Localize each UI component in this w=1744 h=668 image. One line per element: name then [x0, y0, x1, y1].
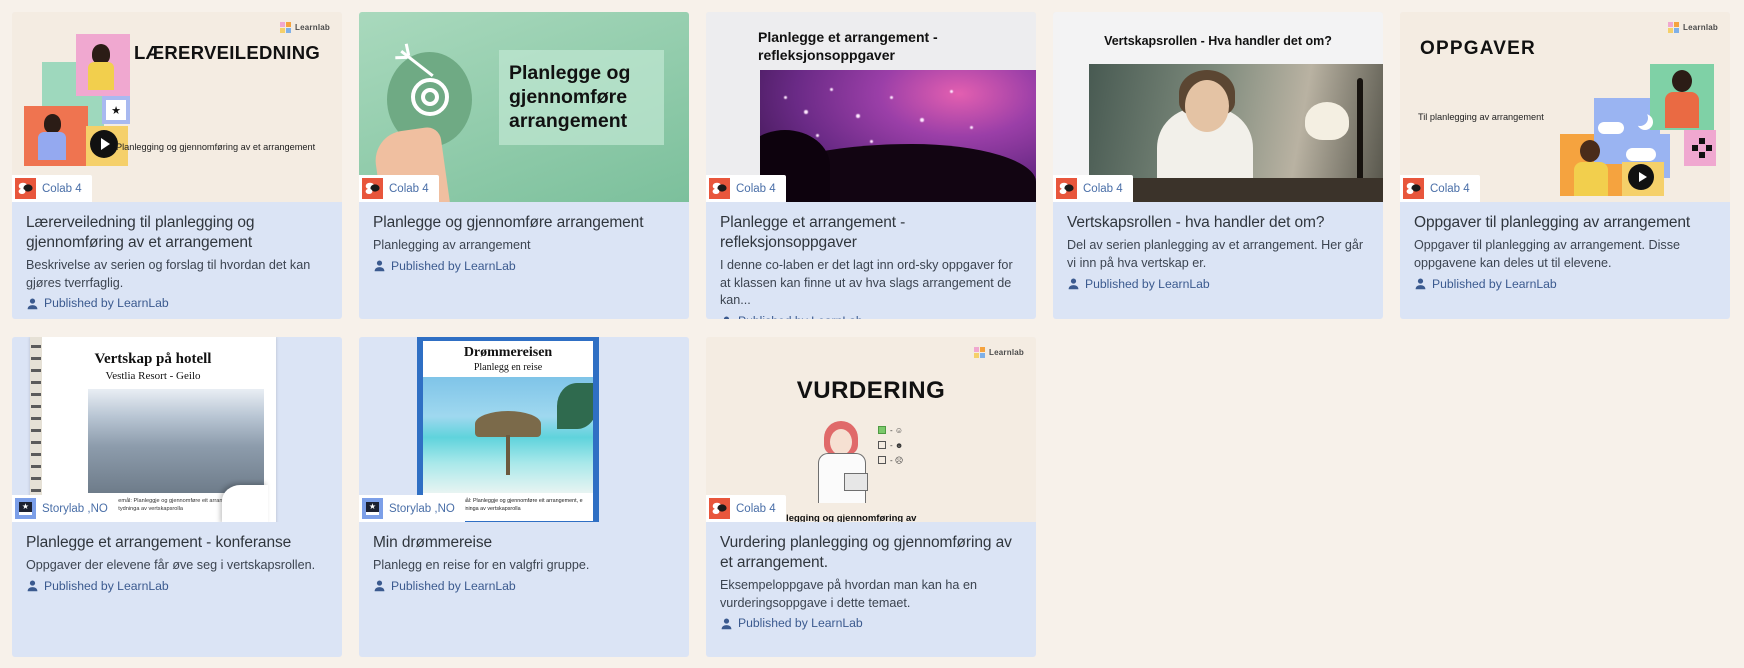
person-illustration-a [1572, 140, 1612, 196]
card-body: Planlegge et arrangement - konferanse Op… [12, 522, 342, 657]
card-body: Vurdering planlegging og gjennomføring a… [706, 522, 1036, 657]
thumbnail-subheading: Til planlegging av arrangement [1418, 112, 1544, 122]
card-publisher: Published by LearnLab [720, 314, 1022, 319]
card-title[interactable]: Vurdering planlegging og gjennomføring a… [720, 533, 1022, 573]
thumbnail-heading: VURDERING [706, 377, 1036, 405]
content-card-laererveiledning[interactable]: ★ LÆRERVEILEDNING Planlegging og gjennom… [12, 12, 342, 319]
book-star-icon: ★ [15, 498, 36, 519]
card-publisher: Published by LearnLab [373, 579, 675, 593]
card-thumbnail[interactable]: Vertskapsrollen - Hva handler det om? Co… [1053, 12, 1383, 202]
card-title[interactable]: Oppgaver til planlegging av arrangement [1414, 213, 1716, 233]
person-illustration-b [1662, 70, 1704, 128]
palm-tree [557, 383, 593, 429]
content-card-konferanse[interactable]: Vertskap på hotell Vestlia Resort - Geil… [12, 337, 342, 657]
card-publisher: Published by LearnLab [373, 259, 675, 273]
lamp-shade [1305, 102, 1349, 140]
content-card-refleksjonsoppgaver[interactable]: Planlegge et arrangement - refleksjonsop… [706, 12, 1036, 319]
body-shape [88, 62, 114, 90]
card-title[interactable]: Planlegge et arrangement - refleksjonsop… [720, 213, 1022, 253]
source-badge-label: Colab 4 [389, 183, 429, 195]
thumbnail-artwork-laererveiledning: ★ LÆRERVEILEDNING Planlegging og gjennom… [12, 12, 342, 202]
thumbnail-heading: Vertskapsrollen - Hva handler det om? [1053, 34, 1383, 48]
checkbox-rating-list: - ☺ - ☻ - ☹ [878, 423, 950, 469]
thumbnail-subheading: Planlegging og gjennomføring av arrangem… [766, 513, 976, 522]
fireworks-photo [760, 70, 1036, 202]
rating-row-neutral: - ☻ [878, 438, 950, 453]
card-thumbnail[interactable]: Vertskap på hotell Vestlia Resort - Geil… [12, 337, 342, 522]
beach-umbrella [475, 411, 541, 437]
play-icon [1628, 164, 1654, 190]
card-title[interactable]: Vertskapsrollen - hva handler det om? [1067, 213, 1369, 233]
thumbnail-subheading: Planlegg en reise [423, 362, 593, 373]
source-badge-label: Colab 4 [736, 503, 776, 515]
content-card-oppgaver[interactable]: OPPGAVER Til planlegging av arrangement [1400, 12, 1730, 319]
card-description: Oppgaver til planlegging av arrangement.… [1414, 237, 1716, 273]
book-star-icon: ★ [362, 498, 383, 519]
source-badge[interactable]: Colab 4 [359, 175, 439, 202]
source-badge[interactable]: ★ Storylab ,NO [12, 495, 118, 522]
source-badge[interactable]: Colab 4 [706, 495, 786, 522]
learnlab-mark-icon [280, 22, 291, 33]
speech-bubbles-icon [1403, 178, 1424, 199]
thumbnail-heading: Planlegge og gjennomføre arrangement [499, 50, 664, 145]
source-badge[interactable]: Colab 4 [706, 175, 786, 202]
publisher-label: Published by LearnLab [1085, 277, 1210, 291]
speech-bubbles-icon [1056, 178, 1077, 199]
speech-bubbles-icon [15, 178, 36, 199]
card-title[interactable]: Planlegge et arrangement - konferanse [26, 533, 328, 553]
nodes-icon [1692, 138, 1712, 158]
snow-landscape-photo [88, 389, 264, 493]
person-face [1185, 80, 1229, 132]
user-icon [1414, 277, 1427, 290]
beach-photo [423, 377, 593, 493]
thumbnail-heading: Planlegge et arrangement - refleksjonsop… [758, 28, 1018, 65]
reception-photo [1089, 64, 1383, 202]
card-thumbnail[interactable]: Drømmereisen Planlegg en reise Kompetans… [359, 337, 689, 522]
face-shape [830, 429, 852, 455]
publisher-label: Published by LearnLab [738, 314, 863, 319]
publisher-label: Published by LearnLab [1432, 277, 1557, 291]
person-illustration-b [30, 112, 76, 162]
card-body: Planlegge og gjennomføre arrangement Pla… [359, 202, 689, 319]
card-thumbnail[interactable]: OPPGAVER Til planlegging av arrangement [1400, 12, 1730, 202]
user-icon [373, 259, 386, 272]
card-publisher: Published by LearnLab [720, 616, 1022, 630]
learnlab-logo: Learnlab [1668, 22, 1718, 33]
rating-row-sad: - ☹ [878, 453, 950, 468]
thumbnail-heading: Vertskap på hotell [30, 351, 276, 368]
source-badge-label: Colab 4 [736, 183, 776, 195]
source-badge[interactable]: Colab 4 [1053, 175, 1133, 202]
source-badge[interactable]: Colab 4 [1400, 175, 1480, 202]
head-shape [44, 114, 61, 133]
thumbnail-artwork-reception: Vertskapsrollen - Hva handler det om? [1053, 12, 1383, 202]
card-body: Oppgaver til planlegging av arrangement … [1400, 202, 1730, 319]
thumbnail-artwork-oppgaver: OPPGAVER Til planlegging av arrangement [1400, 12, 1730, 202]
card-description: Oppgaver der elevene får øve seg i verts… [26, 557, 328, 575]
source-badge-label: Storylab ,NO [389, 503, 455, 515]
card-description: Eksempeloppgave på hvordan man kan ha en… [720, 577, 1022, 613]
content-card-planlegge-gjennomfore[interactable]: Planlegge og gjennomføre arrangement Col… [359, 12, 689, 319]
card-thumbnail[interactable]: ★ LÆRERVEILEDNING Planlegging og gjennom… [12, 12, 342, 202]
learnlab-wordmark: Learnlab [295, 23, 330, 32]
clipboard-shape [844, 473, 868, 491]
source-badge-label: Colab 4 [42, 183, 82, 195]
thumbnail-artwork-fireworks: Planlegge et arrangement - refleksjonsop… [706, 12, 1036, 202]
user-icon [26, 297, 39, 310]
page-curl [222, 485, 268, 522]
thumbnail-subheading: Vestlia Resort - Geilo [30, 370, 276, 382]
thumbnail-artwork-target: Planlegge og gjennomføre arrangement [359, 12, 689, 202]
thumbnail-heading: OPPGAVER [1420, 38, 1536, 60]
card-thumbnail[interactable]: Planlegge et arrangement - refleksjonsop… [706, 12, 1036, 202]
publisher-label: Published by LearnLab [738, 616, 863, 630]
body-shape [38, 132, 66, 160]
card-title[interactable]: Lærerveiledning til planlegging og gjenn… [26, 213, 328, 253]
card-body: Lærerveiledning til planlegging og gjenn… [12, 202, 342, 319]
speech-bubbles-icon [709, 178, 730, 199]
document-page: Drømmereisen Planlegg en reise Kompetans… [423, 341, 593, 521]
head-shape [92, 44, 110, 64]
publisher-label: Published by LearnLab [44, 579, 169, 593]
source-badge-label: Colab 4 [1083, 183, 1123, 195]
content-card-vertskapsrollen[interactable]: Vertskapsrollen - Hva handler det om? Co… [1053, 12, 1383, 319]
card-publisher: Published by LearnLab [26, 296, 328, 310]
umbrella-pole [506, 435, 510, 475]
body-shape [1665, 92, 1699, 128]
card-title[interactable]: Planlegge og gjennomføre arrangement [373, 213, 675, 233]
user-icon [720, 315, 733, 319]
moon-icon [1632, 110, 1648, 126]
rating-row-happy: - ☺ [878, 423, 950, 438]
speech-bubbles-icon [362, 178, 383, 199]
reception-desk [1089, 178, 1383, 202]
user-icon [373, 579, 386, 592]
person-illustration-a [82, 42, 124, 92]
body-shape [1574, 162, 1608, 196]
source-badge-label: Storylab ,NO [42, 503, 108, 515]
teacher-illustration [816, 421, 872, 503]
card-title[interactable]: Min drømmereise [373, 533, 675, 553]
card-description: Planlegging av arrangement [373, 237, 675, 255]
card-publisher: Published by LearnLab [1414, 277, 1716, 291]
card-body: Vertskapsrollen - hva handler det om? De… [1053, 202, 1383, 319]
book-glyph: ★ [19, 502, 32, 515]
thumbnail-heading: LÆRERVEILEDNING [134, 42, 320, 64]
source-badge-label: Colab 4 [1430, 183, 1470, 195]
speech-bubbles-icon [709, 498, 730, 519]
card-body: Planlegge et arrangement - refleksjonsop… [706, 202, 1036, 319]
card-description: I denne co-laben er det lagt inn ord-sky… [720, 257, 1022, 311]
card-description: Del av serien planlegging av et arrangem… [1067, 237, 1369, 273]
play-icon [90, 130, 118, 158]
learnlab-mark-icon [1668, 22, 1679, 33]
card-thumbnail[interactable]: VURDERING - ☺ - ☻ - ☹ Planlegging og gje… [706, 337, 1036, 522]
user-icon [26, 579, 39, 592]
head-shape [1580, 140, 1600, 162]
user-icon [720, 617, 733, 630]
card-description: Beskrivelse av serien og forslag til hvo… [26, 257, 328, 293]
user-icon [1067, 277, 1080, 290]
publisher-label: Published by LearnLab [44, 296, 169, 310]
publisher-label: Published by LearnLab [391, 579, 516, 593]
learnlab-wordmark: Learnlab [1683, 23, 1718, 32]
learnlab-wordmark: Learnlab [989, 348, 1024, 357]
card-body: Min drømmereise Planlegg en reise for en… [359, 522, 689, 657]
content-card-grid: ★ LÆRERVEILEDNING Planlegging og gjennom… [0, 0, 1744, 657]
book-glyph: ★ [366, 502, 379, 515]
cloud-icon [1598, 122, 1624, 134]
source-badge[interactable]: Colab 4 [12, 175, 92, 202]
learnlab-logo: Learnlab [974, 347, 1024, 358]
content-card-drommereise[interactable]: Drømmereisen Planlegg en reise Kompetans… [359, 337, 689, 657]
learnlab-mark-icon [974, 347, 985, 358]
lamp-stand [1357, 78, 1363, 188]
head-shape [1672, 70, 1692, 92]
thumbnail-heading: Drømmereisen [423, 345, 593, 361]
card-publisher: Published by LearnLab [1067, 277, 1369, 291]
cloud-icon-2 [1626, 148, 1656, 161]
card-thumbnail[interactable]: Planlegge og gjennomføre arrangement Col… [359, 12, 689, 202]
card-description: Planlegg en reise for en valgfri gruppe. [373, 557, 675, 575]
publisher-label: Published by LearnLab [391, 259, 516, 273]
learnlab-logo: Learnlab [280, 22, 330, 33]
card-publisher: Published by LearnLab [26, 579, 328, 593]
target-ring-inner [421, 88, 439, 106]
thumbnail-subheading: Planlegging og gjennomføring av et arran… [116, 142, 315, 152]
star-badge-icon: ★ [106, 100, 126, 120]
content-card-vurdering[interactable]: VURDERING - ☺ - ☻ - ☹ Planlegging og gje… [706, 337, 1036, 657]
source-badge[interactable]: ★ Storylab ,NO [359, 495, 465, 522]
